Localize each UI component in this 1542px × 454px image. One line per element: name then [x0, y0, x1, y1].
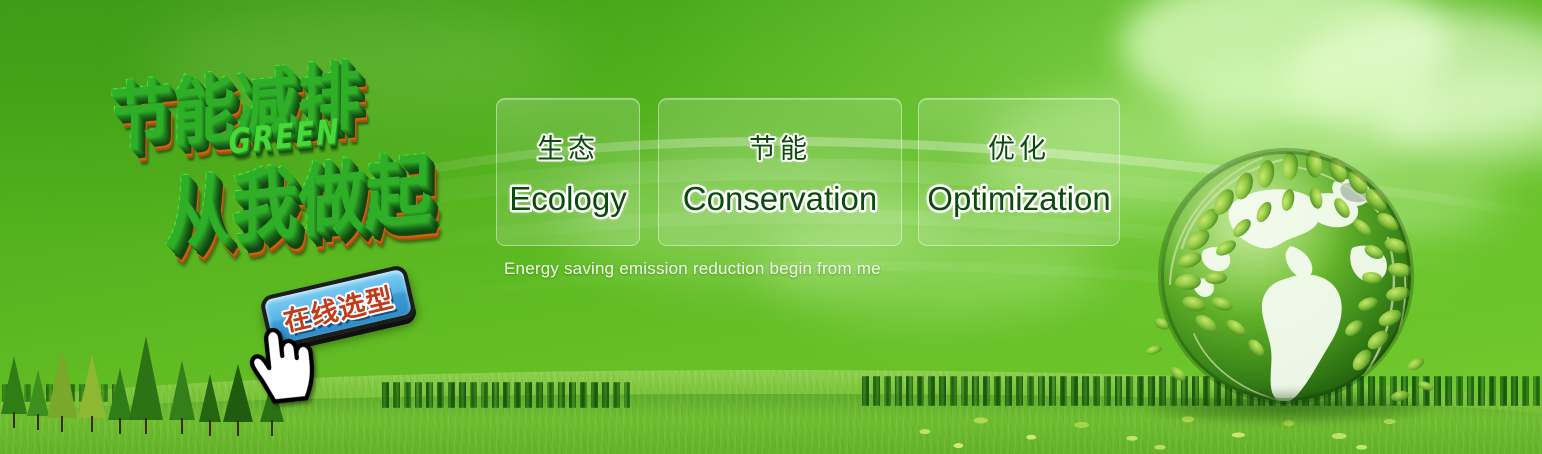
- leafy-globe: [1138, 128, 1434, 428]
- online-selection-button[interactable]: 在线选型: [259, 264, 417, 350]
- feature-card-conservation[interactable]: 节能 Conservation: [658, 98, 902, 246]
- feature-card-cn-label: 优化: [988, 127, 1050, 166]
- globe-illustration: [1138, 128, 1434, 428]
- feature-card-cn-label: 生态: [537, 127, 599, 166]
- eco-banner: 节能减排 GREEN 从我做起 生态 Ecology 节能 Conservati…: [0, 0, 1542, 454]
- feature-card-optimization[interactable]: 优化 Optimization: [918, 98, 1120, 246]
- feature-card-en-label: Optimization: [927, 180, 1110, 218]
- distant-treeline: [380, 382, 630, 408]
- feature-card-ecology[interactable]: 生态 Ecology: [496, 98, 640, 246]
- feature-card-en-label: Ecology: [509, 180, 626, 218]
- feature-card-cn-label: 节能: [749, 127, 811, 166]
- feature-card-en-label: Conservation: [683, 180, 877, 218]
- cta-button-label: 在线选型: [259, 264, 417, 350]
- globe-ground-shadow: [1144, 390, 1430, 424]
- banner-subtitle: Energy saving emission reduction begin f…: [504, 259, 881, 279]
